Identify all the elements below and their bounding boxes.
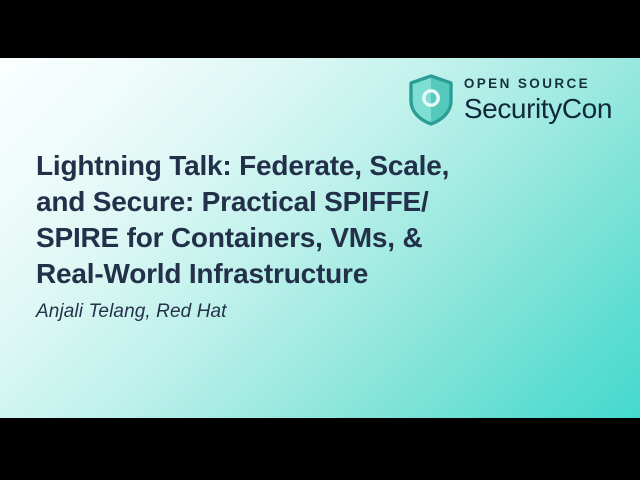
letterbox-bottom-bar: [0, 418, 640, 480]
logo-wordmark: OPEN SOURCE SecurityCon: [464, 77, 612, 124]
letterbox-top-bar: [0, 0, 640, 58]
video-player-frame: OPEN SOURCE SecurityCon Lightning Talk: …: [0, 0, 640, 480]
presentation-slide: OPEN SOURCE SecurityCon Lightning Talk: …: [0, 58, 640, 418]
talk-title: Lightning Talk: Federate, Scale, and Sec…: [36, 148, 516, 292]
talk-title-line: SPIRE for Containers, VMs, &: [36, 220, 516, 256]
speaker-name-and-affiliation: Anjali Telang, Red Hat: [36, 301, 227, 323]
talk-title-line: and Secure: Practical SPIFFE/: [36, 184, 516, 220]
shield-icon: [408, 74, 454, 126]
talk-title-line: Real-World Infrastructure: [36, 256, 516, 292]
logo-open-source-text: OPEN SOURCE: [464, 77, 612, 91]
talk-title-line: Lightning Talk: Federate, Scale,: [36, 148, 516, 184]
event-logo: OPEN SOURCE SecurityCon: [408, 74, 612, 126]
logo-securitycon-text: SecurityCon: [464, 95, 612, 123]
